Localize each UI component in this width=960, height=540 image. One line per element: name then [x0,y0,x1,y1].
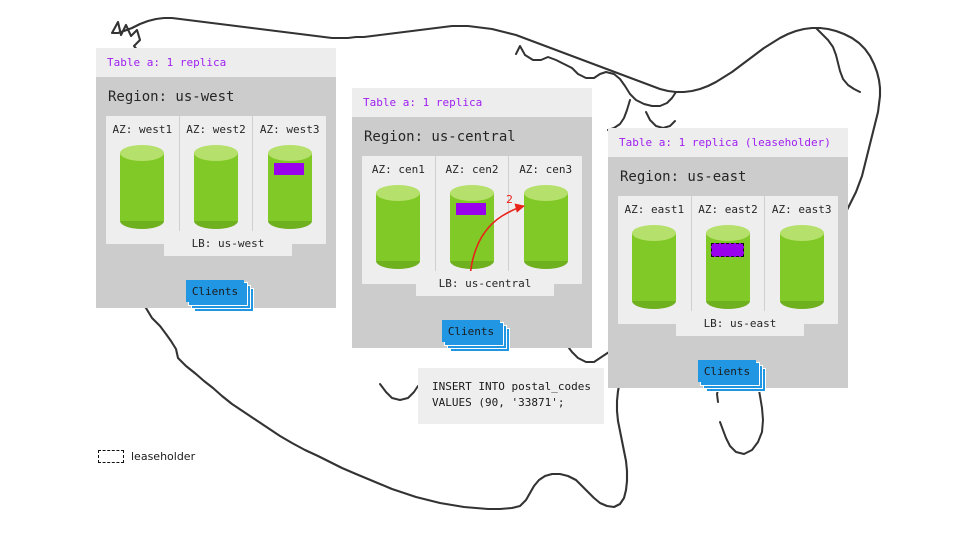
region-title-us-west: Region: us-west [106,77,326,116]
legend-leaseholder: leaseholder [98,450,195,463]
cylinder-body [632,233,676,301]
az-label-cen3: AZ: cen3 [519,164,572,175]
az-label-cen2: AZ: cen2 [446,164,499,175]
node-cylinder-west1[interactable] [120,145,164,229]
legend-label: leaseholder [131,451,195,462]
clients-group-us-central[interactable]: Clients [442,320,510,350]
az-cell-cen1[interactable]: AZ: cen1 [362,156,436,284]
az-cell-west2[interactable]: AZ: west2 [180,116,254,244]
region-header-us-west: Table a: 1 replica [96,48,336,77]
cylinder-top [450,185,494,201]
clients-button-us-west[interactable]: Clients [186,280,244,302]
az-row-us-west: AZ: west1 AZ: west2 AZ [106,116,326,244]
replica-marker-cen2 [456,203,486,215]
cylinder-top [194,145,238,161]
az-label-east2: AZ: east2 [698,204,758,215]
az-label-west1: AZ: west1 [113,124,173,135]
cylinder-top [120,145,164,161]
replica-marker-east2-leaseholder [711,243,744,257]
az-cell-west3[interactable]: AZ: west3 [253,116,326,244]
region-header-us-east: Table a: 1 replica (leaseholder) [608,128,848,157]
az-row-us-east: AZ: east1 AZ: east2 [618,196,838,324]
node-cylinder-cen2[interactable] [450,185,494,269]
az-cell-east2[interactable]: AZ: east2 [692,196,766,324]
clients-button-us-east[interactable]: Clients [698,360,756,382]
clients-group-us-west[interactable]: Clients [186,280,254,310]
az-row-us-central: AZ: cen1 AZ: cen2 [362,156,582,284]
region-panel-us-west: Table a: 1 replica Region: us-west AZ: w… [96,48,336,308]
cylinder-body [376,193,420,261]
node-cylinder-east3[interactable] [780,225,824,309]
region-panel-us-central: Table a: 1 replica Region: us-central AZ… [352,88,592,348]
region-title-us-central: Region: us-central [362,117,582,156]
replica-marker-west3 [274,163,304,175]
node-cylinder-east1[interactable] [632,225,676,309]
cylinder-body [780,233,824,301]
load-balancer-us-west[interactable]: LB: us-west [164,231,292,256]
az-label-cen1: AZ: cen1 [372,164,425,175]
dashed-rect-swatch [98,450,124,463]
az-label-west2: AZ: west2 [186,124,246,135]
node-cylinder-west2[interactable] [194,145,238,229]
region-body-us-west: Region: us-west AZ: west1 AZ: west2 [96,77,336,308]
diagram-canvas: Table a: 1 replica Region: us-west AZ: w… [0,0,960,540]
cylinder-top [780,225,824,241]
cylinder-body [524,193,568,261]
node-cylinder-cen3[interactable] [524,185,568,269]
cylinder-top [268,145,312,161]
routing-arrow-label: 2 [506,194,513,205]
az-label-east3: AZ: east3 [772,204,832,215]
cylinder-top [524,185,568,201]
sql-statement-box: INSERT INTO postal_codes VALUES (90, '33… [418,368,604,424]
cylinder-top [632,225,676,241]
az-cell-cen2[interactable]: AZ: cen2 [436,156,510,284]
clients-group-us-east[interactable]: Clients [698,360,766,390]
region-body-us-central: Region: us-central AZ: cen1 AZ: cen2 [352,117,592,348]
cylinder-body [194,153,238,221]
az-label-west3: AZ: west3 [260,124,320,135]
node-cylinder-west3[interactable] [268,145,312,229]
cylinder-top [706,225,750,241]
load-balancer-us-east[interactable]: LB: us-east [676,311,804,336]
region-body-us-east: Region: us-east AZ: east1 AZ: east2 [608,157,848,388]
az-cell-east1[interactable]: AZ: east1 [618,196,692,324]
clients-button-us-central[interactable]: Clients [442,320,500,342]
region-panel-us-east: Table a: 1 replica (leaseholder) Region:… [608,128,848,388]
node-cylinder-east2[interactable] [706,225,750,309]
region-title-us-east: Region: us-east [618,157,838,196]
load-balancer-us-central[interactable]: LB: us-central [416,271,554,296]
az-cell-west1[interactable]: AZ: west1 [106,116,180,244]
cylinder-top [376,185,420,201]
az-label-east1: AZ: east1 [625,204,685,215]
node-cylinder-cen1[interactable] [376,185,420,269]
region-header-us-central: Table a: 1 replica [352,88,592,117]
az-cell-east3[interactable]: AZ: east3 [765,196,838,324]
cylinder-body [120,153,164,221]
az-cell-cen3[interactable]: AZ: cen3 [509,156,582,284]
